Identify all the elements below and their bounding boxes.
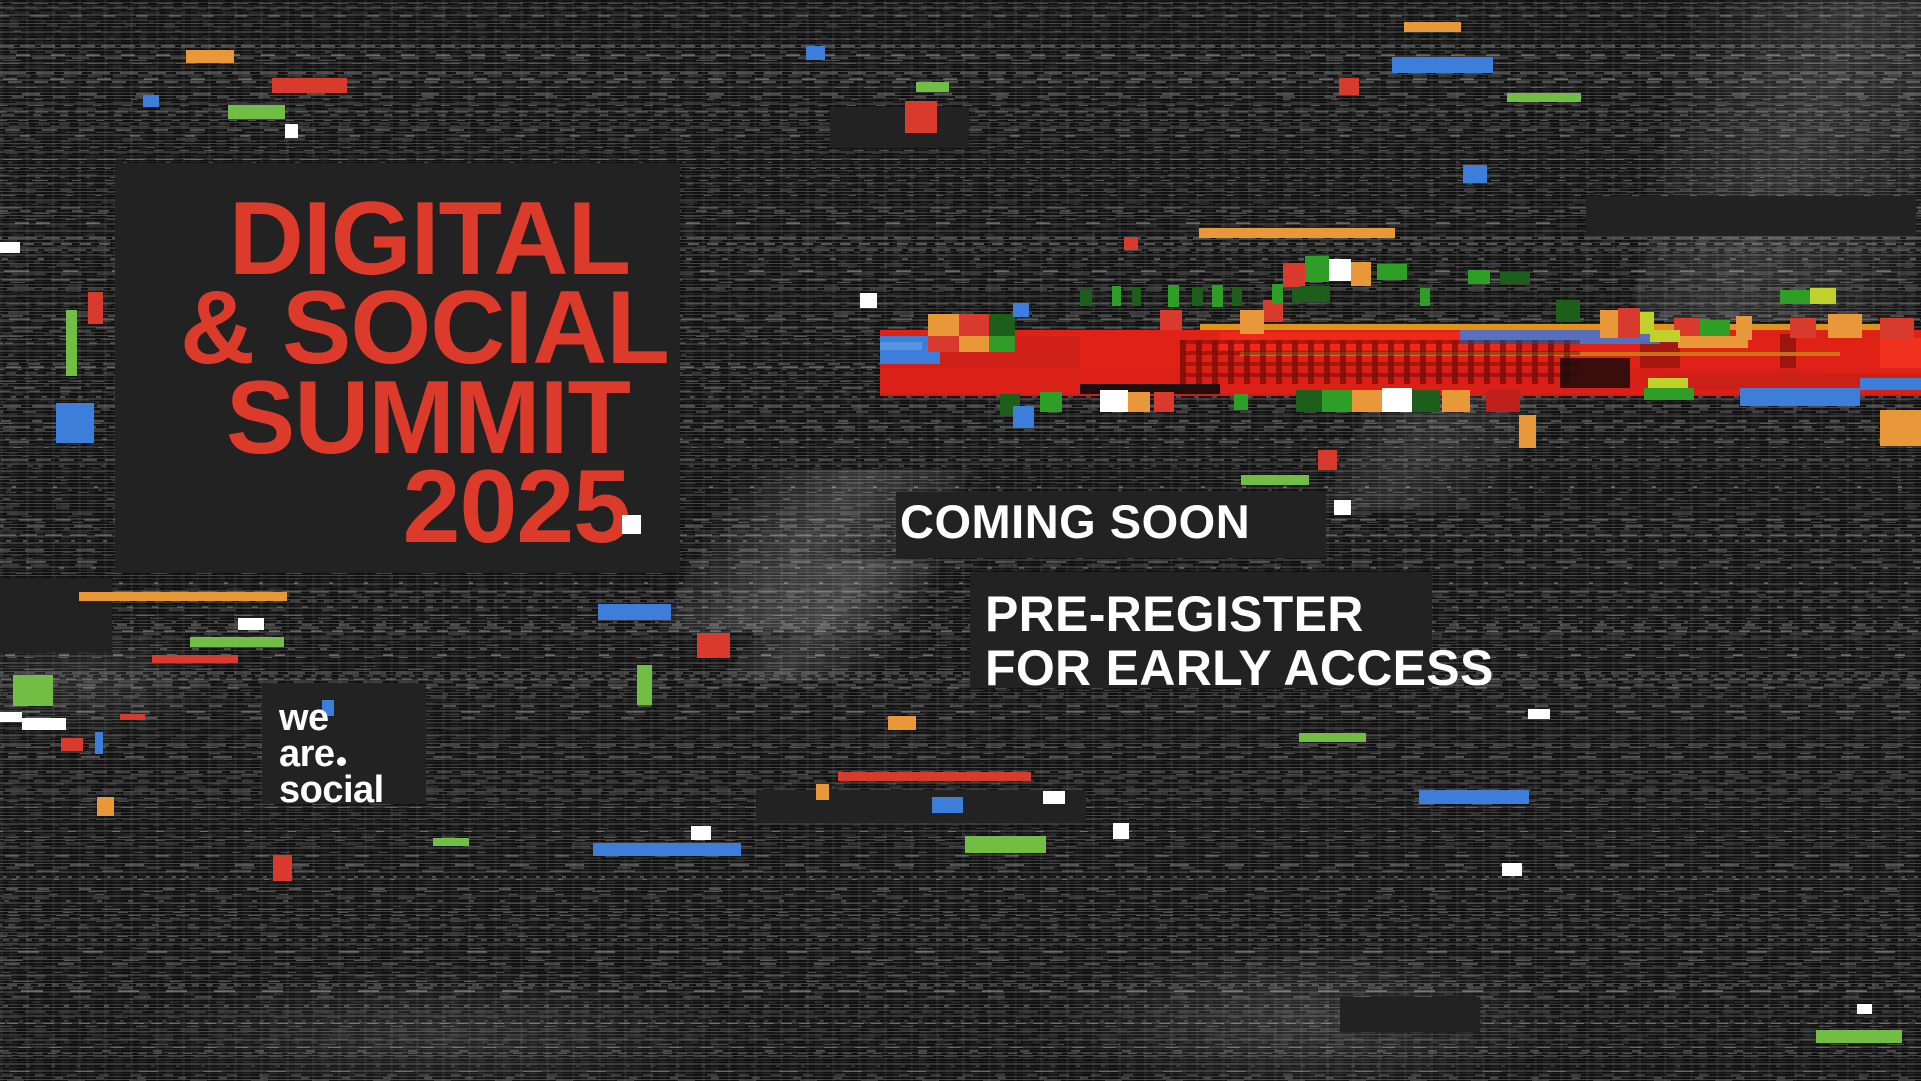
- datamosh-blue-strip-2: [880, 342, 922, 350]
- mosh-block: [1292, 288, 1302, 304]
- glitch-color-block: [1519, 415, 1536, 448]
- glitch-color-block: [806, 46, 825, 60]
- coming-soon-text: COMING SOON: [900, 498, 1250, 545]
- datamosh-dark-core: [1560, 358, 1630, 388]
- mosh-block: [1300, 286, 1330, 302]
- mosh-block: [959, 336, 989, 352]
- mosh-block: [1234, 394, 1248, 410]
- glitch-color-block: [691, 826, 711, 840]
- glitch-color-block: [1124, 237, 1138, 250]
- glitch-color-block: [79, 592, 287, 601]
- mosh-block: [1232, 288, 1242, 306]
- top-right-panel: [1586, 196, 1916, 236]
- mosh-block: [1556, 300, 1580, 322]
- glitch-color-block: [1334, 500, 1351, 515]
- pre-register-text: PRE-REGISTER FOR EARLY ACCESS: [985, 588, 1494, 695]
- glitch-color-block: [228, 105, 285, 119]
- bottom-glow-2: [130, 970, 750, 1081]
- mosh-block: [959, 314, 989, 336]
- mosh-block: [1790, 318, 1816, 338]
- mosh-block: [1154, 392, 1174, 412]
- glitch-color-block: [273, 855, 292, 881]
- glitch-color-block: [1857, 1004, 1872, 1014]
- glitch-color-block: [97, 797, 114, 816]
- mosh-block: [1644, 388, 1694, 400]
- mid-left-panel: [0, 578, 112, 652]
- mosh-block: [1322, 390, 1352, 412]
- mosh-block: [1650, 330, 1680, 342]
- glitch-color-block: [965, 836, 1046, 853]
- glitch-color-block: [22, 718, 66, 730]
- mosh-block: [1329, 259, 1351, 281]
- glitch-color-block: [1404, 22, 1461, 32]
- glitch-color-block: [1816, 1030, 1902, 1043]
- glitch-color-block: [143, 95, 159, 107]
- glitch-color-block: [1113, 823, 1129, 839]
- mosh-block: [1080, 290, 1092, 306]
- logo-dot-icon: [337, 757, 346, 766]
- bottom-glow-1: [1050, 940, 1570, 1081]
- mosh-block: [1810, 288, 1836, 304]
- glitch-color-block: [598, 604, 671, 620]
- mosh-block: [1240, 310, 1264, 334]
- glitch-color-block: [1013, 406, 1034, 428]
- glitch-color-block: [860, 293, 877, 308]
- glitch-color-block: [13, 675, 53, 706]
- logo-line-we: we: [279, 700, 384, 736]
- glitch-color-block: [1199, 228, 1395, 238]
- glitch-color-block: [1507, 93, 1581, 102]
- mosh-block: [1212, 285, 1223, 307]
- mosh-block: [1382, 388, 1412, 412]
- mosh-block: [1296, 390, 1322, 412]
- glitch-color-block: [593, 843, 741, 856]
- glitch-color-block: [905, 101, 937, 133]
- mosh-block: [1132, 288, 1141, 306]
- mosh-block: [1486, 390, 1520, 412]
- mosh-block: [1412, 390, 1440, 412]
- mosh-block: [1305, 256, 1329, 282]
- glitch-color-block: [433, 838, 469, 846]
- glitch-color-block: [1013, 303, 1029, 317]
- glitch-color-block: [0, 242, 20, 253]
- glitch-color-block: [186, 50, 234, 63]
- mosh-block: [1880, 318, 1914, 340]
- glitch-color-block: [1339, 78, 1359, 95]
- mosh-block: [1500, 272, 1530, 284]
- mosh-block: [1780, 290, 1810, 304]
- mosh-block: [1128, 392, 1150, 412]
- top-mid-panel: [830, 108, 969, 148]
- logo-line-social: social: [279, 772, 384, 808]
- glitch-color-block: [88, 292, 103, 324]
- title-line-4: 2025: [180, 463, 630, 552]
- glitch-color-block: [1318, 450, 1337, 470]
- mosh-block: [1618, 308, 1640, 338]
- mosh-block: [1468, 270, 1490, 284]
- datamosh-dark-speckle: [1180, 340, 1580, 384]
- mosh-block: [1040, 392, 1062, 412]
- glitch-color-block: [56, 403, 94, 443]
- mosh-block: [1442, 390, 1470, 412]
- bottom-right-panel: [1340, 997, 1480, 1032]
- mosh-block: [1420, 288, 1430, 306]
- glitch-color-block: [120, 714, 145, 720]
- glitch-color-block: [697, 633, 730, 658]
- mosh-block: [1160, 310, 1182, 330]
- mosh-block: [1112, 286, 1121, 306]
- low-mid-panel: [756, 790, 1086, 823]
- mosh-block: [1100, 390, 1128, 412]
- mosh-block: [1678, 336, 1748, 348]
- pre-register-line-2: FOR EARLY ACCESS: [985, 642, 1494, 696]
- glitch-color-block: [1299, 733, 1366, 742]
- glitch-color-block: [932, 797, 963, 813]
- glitch-color-block: [152, 655, 238, 663]
- mosh-block: [1860, 378, 1921, 390]
- glitch-color-block: [190, 637, 284, 647]
- glitch-color-block: [1502, 863, 1522, 876]
- glitch-color-block: [1463, 165, 1487, 183]
- mosh-block: [928, 336, 959, 352]
- glitch-color-block: [1528, 709, 1550, 719]
- glitch-color-block: [285, 124, 298, 138]
- mosh-block: [1168, 285, 1179, 307]
- glitch-color-block: [61, 738, 83, 751]
- logo-line-are: are: [279, 736, 384, 772]
- mosh-block: [1283, 263, 1305, 287]
- glitch-color-block: [1419, 790, 1529, 804]
- glitch-color-block: [916, 82, 949, 92]
- pre-register-line-1: PRE-REGISTER: [985, 588, 1494, 642]
- glitch-color-block: [95, 732, 103, 754]
- mosh-block: [989, 314, 1015, 336]
- glitch-color-block: [637, 665, 652, 705]
- mosh-block: [1828, 314, 1862, 338]
- we-are-social-logo[interactable]: we are social: [279, 700, 384, 808]
- glitch-color-block: [1043, 791, 1065, 804]
- mosh-block: [1740, 388, 1860, 406]
- event-title: DIGITAL & SOCIAL SUMMIT 2025: [180, 195, 630, 553]
- glitch-color-block: [1392, 57, 1493, 73]
- mosh-block: [1880, 410, 1921, 446]
- glitch-color-block: [888, 716, 916, 730]
- mosh-block: [989, 336, 1015, 352]
- glitch-color-block: [816, 784, 829, 800]
- mosh-block: [1351, 262, 1371, 286]
- glitch-color-block: [0, 712, 22, 722]
- mosh-block: [1377, 264, 1407, 280]
- glitch-color-block: [272, 78, 347, 93]
- glitch-color-block: [838, 772, 1031, 781]
- mosh-block: [1600, 310, 1618, 338]
- glitch-color-block: [1241, 475, 1309, 485]
- glitch-color-block: [66, 310, 77, 376]
- key-visual-canvas: DIGITAL & SOCIAL SUMMIT 2025 COMING SOON…: [0, 0, 1921, 1081]
- glitch-color-block: [238, 618, 264, 630]
- title-period-square: [622, 515, 641, 534]
- mosh-block: [1192, 288, 1203, 306]
- mosh-block: [1272, 284, 1283, 304]
- mosh-block: [928, 314, 959, 336]
- mosh-block: [1352, 390, 1382, 412]
